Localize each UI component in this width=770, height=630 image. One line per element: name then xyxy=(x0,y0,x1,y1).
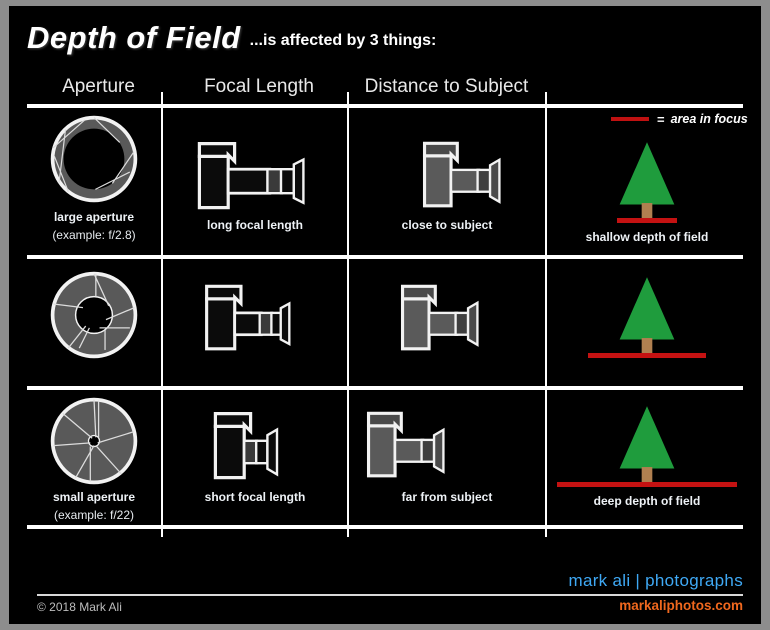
cell-aperture-row2 xyxy=(27,259,161,386)
column-header-focal-length: Focal Length xyxy=(170,76,348,98)
camera-medium-distance-icon xyxy=(395,277,499,360)
focal-length-label-row3: short focal length xyxy=(163,490,347,504)
tree-icon-row2 xyxy=(609,273,685,364)
aperture-large-icon xyxy=(48,113,140,210)
column-header-distance-to-subject: Distance to Subject xyxy=(348,76,545,98)
focal-length-label-row1: long focal length xyxy=(163,218,347,232)
cell-distance-row1: close to subject xyxy=(349,108,545,254)
cell-dof-row1: shallow depth of field xyxy=(547,108,747,254)
distance-label-row1: close to subject xyxy=(349,218,545,232)
camera-medium-lens-icon xyxy=(199,277,311,360)
column-header-aperture: Aperture xyxy=(27,76,170,98)
focus-line-row2 xyxy=(588,353,706,358)
copyright-notice: © 2018 Mark Ali xyxy=(37,600,122,614)
aperture-small-icon xyxy=(48,395,140,492)
focus-line-row3 xyxy=(557,482,737,487)
camera-long-lens-icon xyxy=(193,134,317,219)
cell-distance-row3: far from subject xyxy=(349,390,545,525)
focus-line-row1 xyxy=(617,218,677,223)
cell-dof-row2 xyxy=(547,259,747,386)
cell-aperture-row3: small aperture (example: f/22) xyxy=(27,390,161,525)
camera-far-icon xyxy=(361,404,465,487)
title-main: Depth of Field xyxy=(27,20,241,56)
divider-bottom xyxy=(27,525,743,529)
tree-icon-row1 xyxy=(609,138,685,229)
title-subtitle: ...is affected by 3 things: xyxy=(250,32,437,50)
cell-distance-row2 xyxy=(349,259,545,386)
aperture-sublabel-row1: (example: f/2.8) xyxy=(27,228,161,242)
camera-close-icon xyxy=(417,134,521,217)
infographic-frame: Depth of Field...is affected by 3 things… xyxy=(0,0,770,630)
cell-aperture-row1: large aperture (example: f/2.8) xyxy=(27,108,161,254)
footer-divider xyxy=(37,594,743,596)
page-title: Depth of Field...is affected by 3 things… xyxy=(27,20,747,64)
aperture-label-row3: small aperture xyxy=(27,490,161,504)
cell-focal-length-row2 xyxy=(163,259,347,386)
aperture-sublabel-row3: (example: f/22) xyxy=(27,508,161,522)
dof-label-row3: deep depth of field xyxy=(547,494,747,508)
website-url[interactable]: markaliphotos.com xyxy=(619,598,743,613)
column-headers: Aperture Focal Length Distance to Subjec… xyxy=(9,76,761,102)
infographic-canvas: Depth of Field...is affected by 3 things… xyxy=(9,6,761,624)
cell-dof-row3: deep depth of field xyxy=(547,390,747,525)
aperture-label-row1: large aperture xyxy=(27,210,161,224)
distance-label-row3: far from subject xyxy=(349,490,545,504)
brand-name: mark ali | photographs xyxy=(569,571,744,591)
tree-icon-row3 xyxy=(609,402,685,493)
aperture-medium-icon xyxy=(48,269,140,366)
cell-focal-length-row1: long focal length xyxy=(163,108,347,254)
camera-short-lens-icon xyxy=(209,404,301,489)
cell-focal-length-row3: short focal length xyxy=(163,390,347,525)
dof-label-row1: shallow depth of field xyxy=(547,230,747,244)
